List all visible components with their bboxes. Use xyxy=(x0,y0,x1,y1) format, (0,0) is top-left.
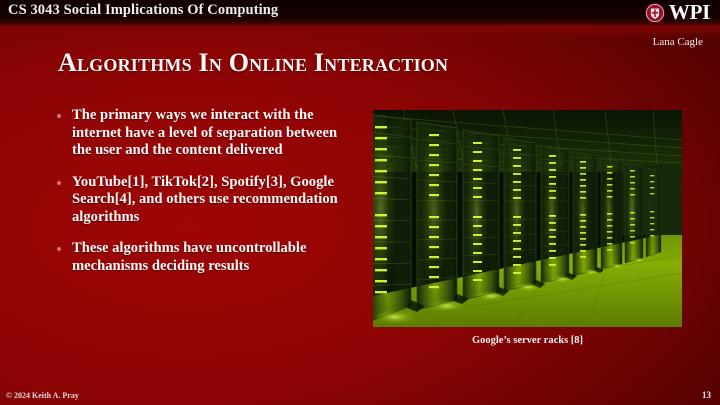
slide-title: Algorithms In Online Interaction xyxy=(58,48,448,78)
figure-caption: Google’s server racks [8] xyxy=(373,335,682,346)
wpi-seal-icon xyxy=(645,3,665,23)
bullet-dot-icon xyxy=(57,247,61,251)
bullet-item: The primary ways we interact with the in… xyxy=(52,107,352,160)
bullet-dot-icon xyxy=(57,114,61,118)
author-name: Lana Cagle xyxy=(653,36,703,48)
bullet-item: These algorithms have uncontrollable mec… xyxy=(52,240,352,275)
footer-copyright: © 2024 Keith A. Pray xyxy=(6,391,79,400)
slide: CS 3043 Social Implications Of Computing… xyxy=(0,0,720,405)
bullet-text: These algorithms have uncontrollable mec… xyxy=(72,240,306,274)
server-racks-photo xyxy=(373,110,682,327)
course-title: CS 3043 Social Implications Of Computing xyxy=(8,2,278,19)
bullet-text: YouTube[1], TikTok[2], Spotify[3], Googl… xyxy=(72,174,338,225)
bullet-dot-icon xyxy=(57,181,61,185)
wpi-wordmark: WPI xyxy=(669,2,710,23)
bullet-item: YouTube[1], TikTok[2], Spotify[3], Googl… xyxy=(52,174,352,227)
bullet-text: The primary ways we interact with the in… xyxy=(72,107,337,158)
page-number: 13 xyxy=(702,390,711,400)
server-racks-illustration xyxy=(373,110,682,327)
wpi-logo: WPI xyxy=(645,2,710,23)
bullet-list: The primary ways we interact with the in… xyxy=(52,107,352,289)
